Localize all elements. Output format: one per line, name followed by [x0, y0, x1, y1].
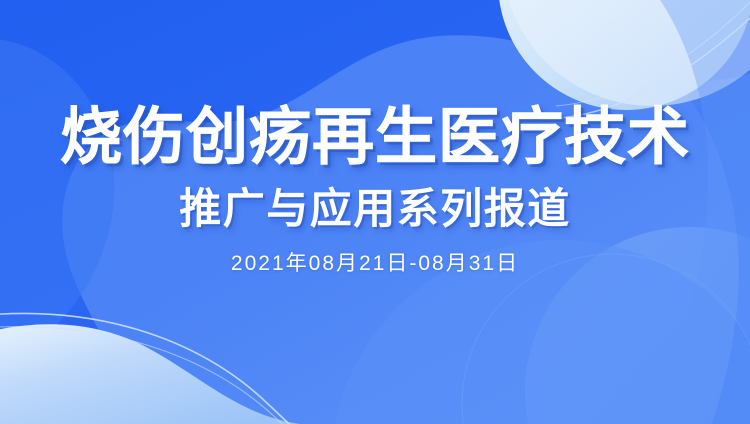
- banner-date-range: 2021年08月21日-08月31日: [231, 251, 519, 277]
- banner-text-block: 烧伤创疡再生医疗技术 推广与应用系列报道 2021年08月21日-08月31日: [0, 0, 750, 424]
- promo-banner: 烧伤创疡再生医疗技术 推广与应用系列报道 2021年08月21日-08月31日: [0, 0, 750, 424]
- banner-sub-title: 推广与应用系列报道: [179, 185, 571, 233]
- banner-main-title: 烧伤创疡再生医疗技术: [60, 103, 690, 173]
